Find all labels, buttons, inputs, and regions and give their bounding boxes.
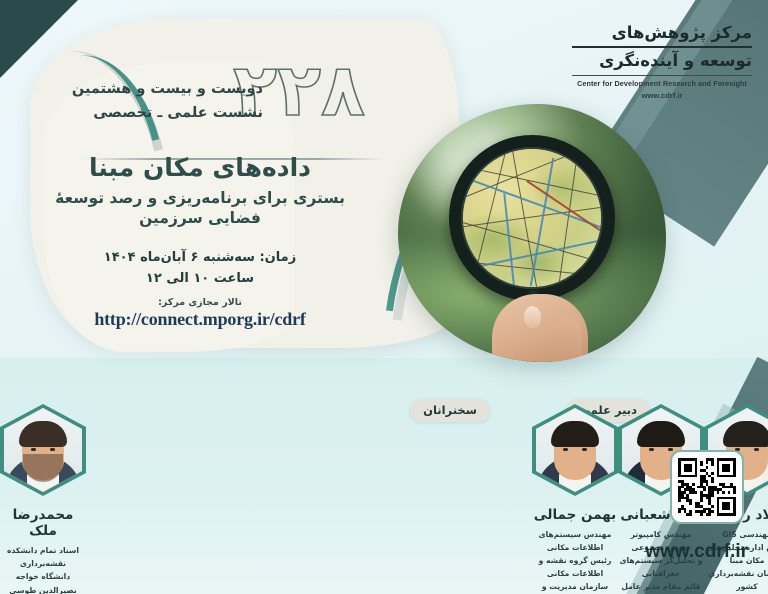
hero-image-magnifier-map [398, 104, 666, 362]
logo-divider-top [572, 46, 752, 47]
footer-website-url[interactable]: www.cdrf.ir [645, 541, 748, 563]
finger-detail [552, 318, 582, 362]
person-role: مهندس سیستم‌های اطلاعات مکانی رئیس گروه … [532, 528, 618, 594]
person-name: محمدرضا ملک [0, 507, 86, 539]
poster-root: مرکز پژوهش‌های توسعه و آینده‌نگری Center… [0, 0, 768, 594]
session-ordinal-line-1: دویست و بیست و هشتمین [72, 78, 263, 102]
logo-line-2: توسعه و آینده‌نگری [572, 50, 752, 72]
thumbnail-detail [524, 306, 541, 328]
session-ordinal-line-2: نشست علمی ـ تخصصی [72, 102, 263, 126]
logo-english-name: Center for Development Research and Fore… [572, 79, 752, 88]
avatar [532, 404, 618, 496]
session-ordinal: دویست و بیست و هشتمین نشست علمی ـ تخصصی [72, 78, 263, 126]
avatar [0, 404, 86, 496]
person-card[interactable]: بهمن جمالی مهندس سیستم‌های اطلاعات مکانی… [532, 404, 618, 594]
event-details: زمان: سه‌شنبه ۶ آبان‌ماه ۱۴۰۴ ساعت ۱۰ ال… [40, 246, 360, 330]
page-title: داده‌های مکان مبنا [40, 152, 360, 183]
event-date: زمان: سه‌شنبه ۶ آبان‌ماه ۱۴۰۴ [40, 246, 360, 270]
poster-title-block: داده‌های مکان مبنا بستری برای برنامه‌ریز… [40, 152, 360, 229]
logo-line-1: مرکز پژوهش‌های [572, 22, 752, 44]
event-time: ساعت ۱۰ الی ۱۲ [40, 270, 360, 288]
virtual-hall-link[interactable]: http://connect.mporg.ir/cdrf [40, 309, 360, 330]
qr-code[interactable] [670, 450, 744, 524]
logo-divider-bottom [572, 75, 752, 76]
person-role: استاد تمام دانشکده نقشه‌برداری دانشگاه خ… [0, 544, 86, 594]
person-name: بهمن جمالی [532, 507, 618, 523]
logo-website-url[interactable]: www.cdrf.ir [572, 91, 752, 100]
page-subtitle: بستری برای برنامه‌ریزی و رصد توسعهٔ فضای… [40, 188, 360, 228]
organization-logo[interactable]: مرکز پژوهش‌های توسعه و آینده‌نگری Center… [572, 22, 752, 100]
people-row: محمدرضا ملک استاد تمام دانشکده نقشه‌بردا… [0, 404, 640, 586]
person-card[interactable]: محمدرضا ملک استاد تمام دانشکده نقشه‌بردا… [0, 404, 86, 594]
qr-code-matrix [678, 458, 736, 516]
virtual-hall-label: تالار مجازی مرکز: [40, 297, 360, 308]
magnifier-lens [461, 147, 603, 289]
